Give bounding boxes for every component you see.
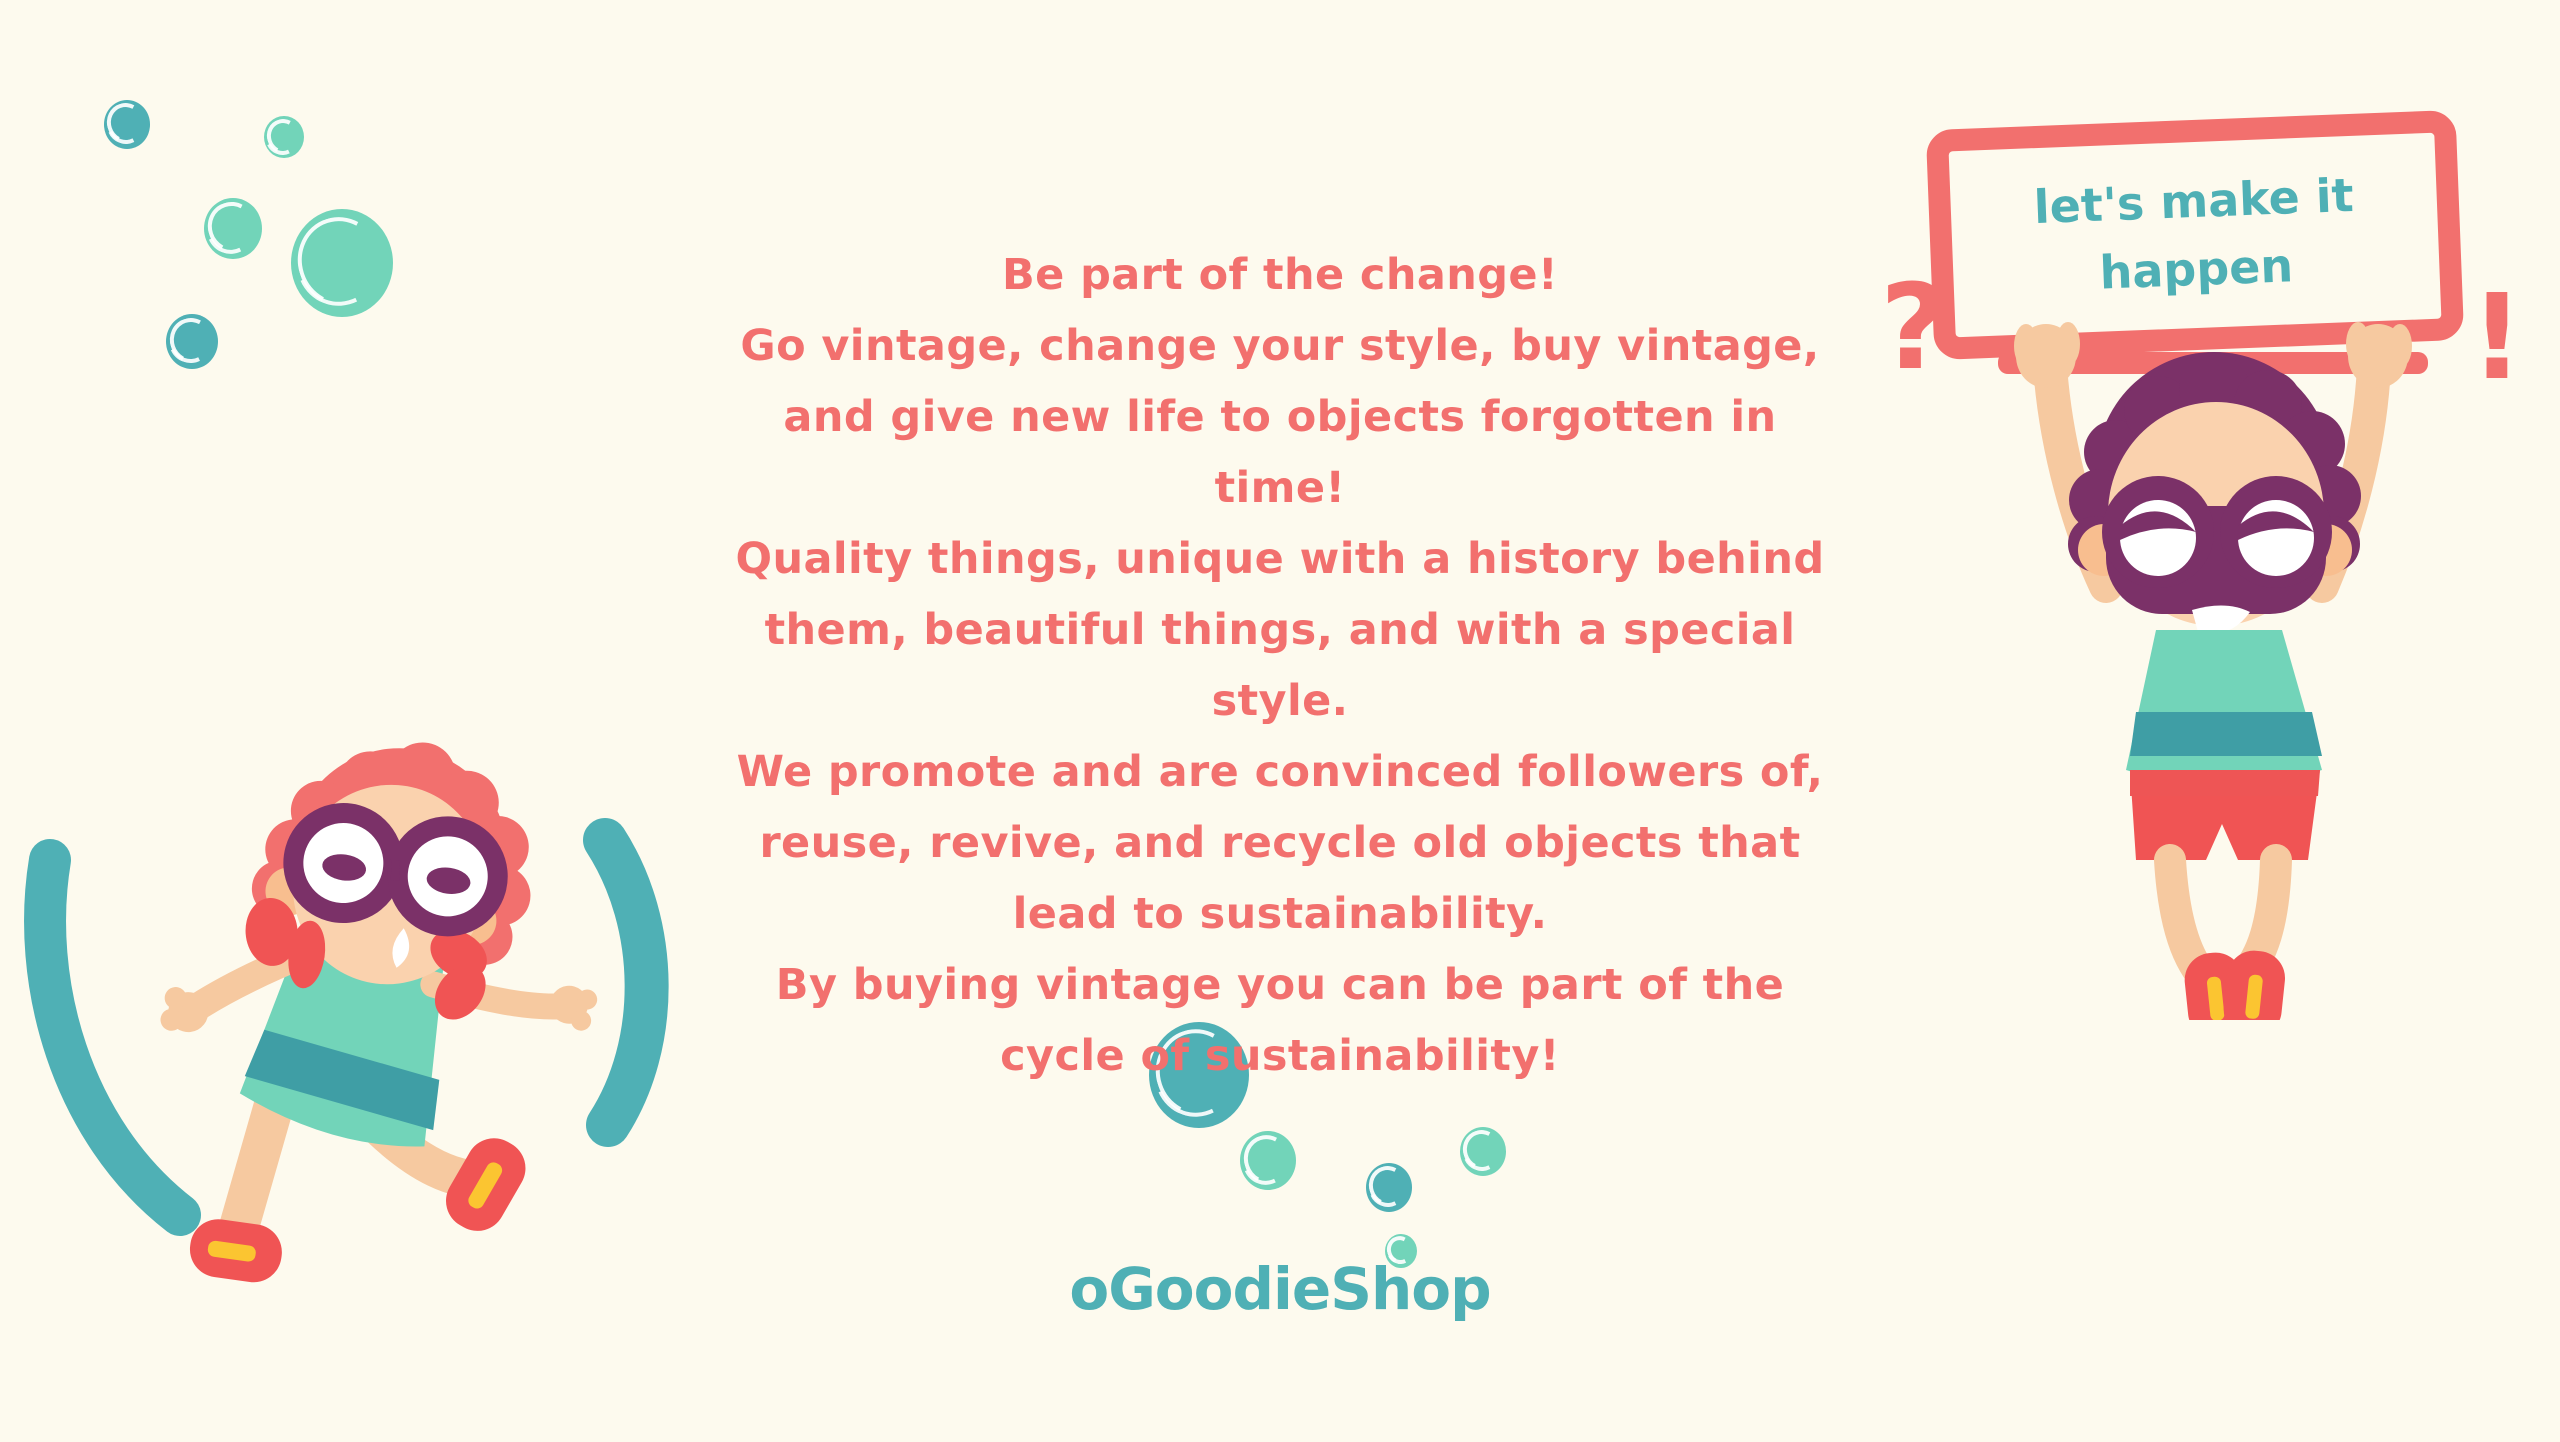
message-line: Be part of the change! <box>690 240 1870 311</box>
message-line: them, beautiful things, and with a speci… <box>690 595 1870 666</box>
message-line: style. <box>690 666 1870 737</box>
banner-canvas: ? ! let's make it happen <box>0 0 2560 1442</box>
message-paragraph: Be part of the change!Go vintage, change… <box>690 240 1870 1092</box>
bubble-highlight-lower-icon <box>200 195 263 260</box>
message-line: We promote and are convinced followers o… <box>690 737 1870 808</box>
message-line: reuse, revive, and recycle old objects t… <box>690 808 1870 879</box>
message-line: lead to sustainability. <box>690 879 1870 950</box>
bubble-highlight-lower-icon <box>163 311 220 369</box>
bubble-highlight-lower-icon <box>1457 1125 1507 1177</box>
message-line: By buying vintage you can be part of the <box>690 950 1870 1021</box>
message-line: cycle of sustainability! <box>690 1021 1870 1092</box>
bubble-highlight-lower-icon <box>101 98 151 150</box>
brand-wordmark: oGoodieShop <box>690 1255 1870 1323</box>
bubble <box>204 198 262 259</box>
message-line: and give new life to objects forgotten i… <box>690 382 1870 453</box>
bubble <box>1240 1131 1296 1190</box>
message-line: Go vintage, change your style, buy vinta… <box>690 311 1870 382</box>
sign-line-1: let's make it <box>2033 161 2355 241</box>
sign-line-2: happen <box>2098 231 2294 306</box>
bubble <box>291 209 393 317</box>
bubble <box>104 100 150 149</box>
bubble-highlight-lower-icon <box>1363 1161 1413 1213</box>
bubble <box>264 116 304 158</box>
character-girl <box>100 740 660 1360</box>
bubble-highlight-lower-icon <box>261 114 305 159</box>
bubble <box>1366 1163 1412 1212</box>
bubble-highlight-lower-icon <box>1236 1128 1297 1191</box>
message-line: Quality things, unique with a history be… <box>690 524 1870 595</box>
bubble-highlight-lower-icon <box>284 204 396 319</box>
bubble <box>166 314 218 369</box>
bubble <box>1460 1127 1506 1176</box>
message-line: time! <box>690 453 1870 524</box>
character-boy <box>1930 300 2510 1020</box>
